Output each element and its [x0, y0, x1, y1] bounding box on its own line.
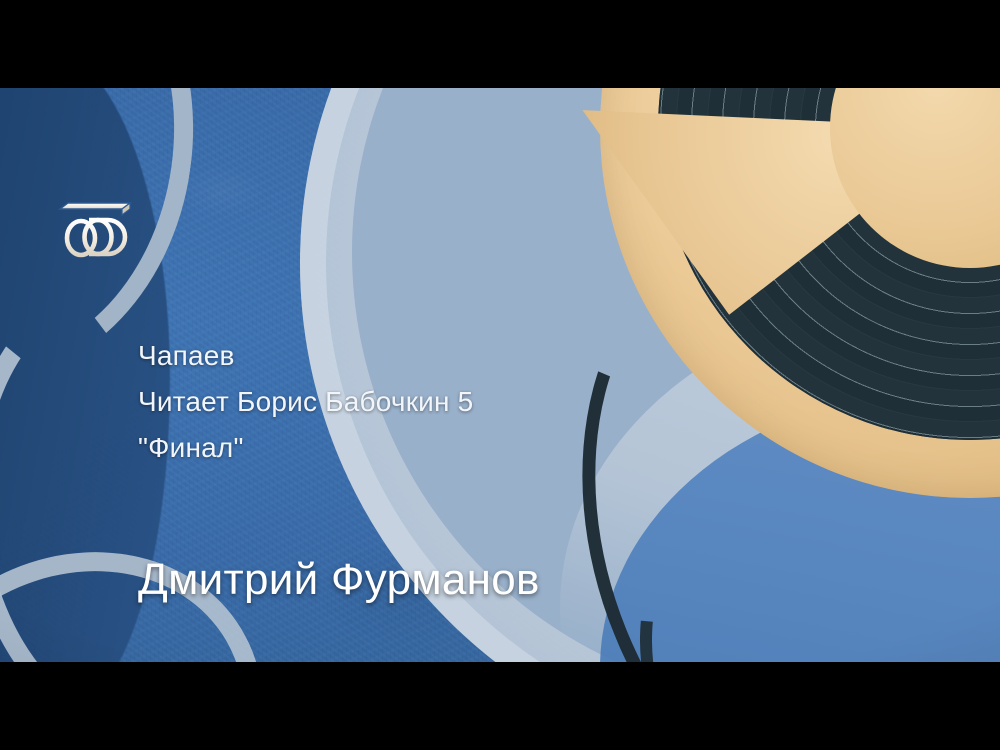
author-name: Дмитрий Фурманов — [138, 552, 540, 608]
video-frame: Чапаев Читает Борис Бабочкин 5 "Финал" Д… — [0, 0, 1000, 750]
title-line-2: Читает Борис Бабочкин 5 — [138, 379, 473, 425]
title-line-3: "Финал" — [138, 425, 473, 471]
radio-fund-logo-icon — [48, 198, 144, 272]
artwork-canvas: Чапаев Читает Борис Бабочкин 5 "Финал" Д… — [0, 88, 1000, 662]
title-line-1: Чапаев — [138, 333, 473, 379]
title-block: Чапаев Читает Борис Бабочкин 5 "Финал" — [138, 333, 473, 471]
letterbox-bar-top — [0, 0, 1000, 88]
letterbox-bar-bottom — [0, 662, 1000, 750]
